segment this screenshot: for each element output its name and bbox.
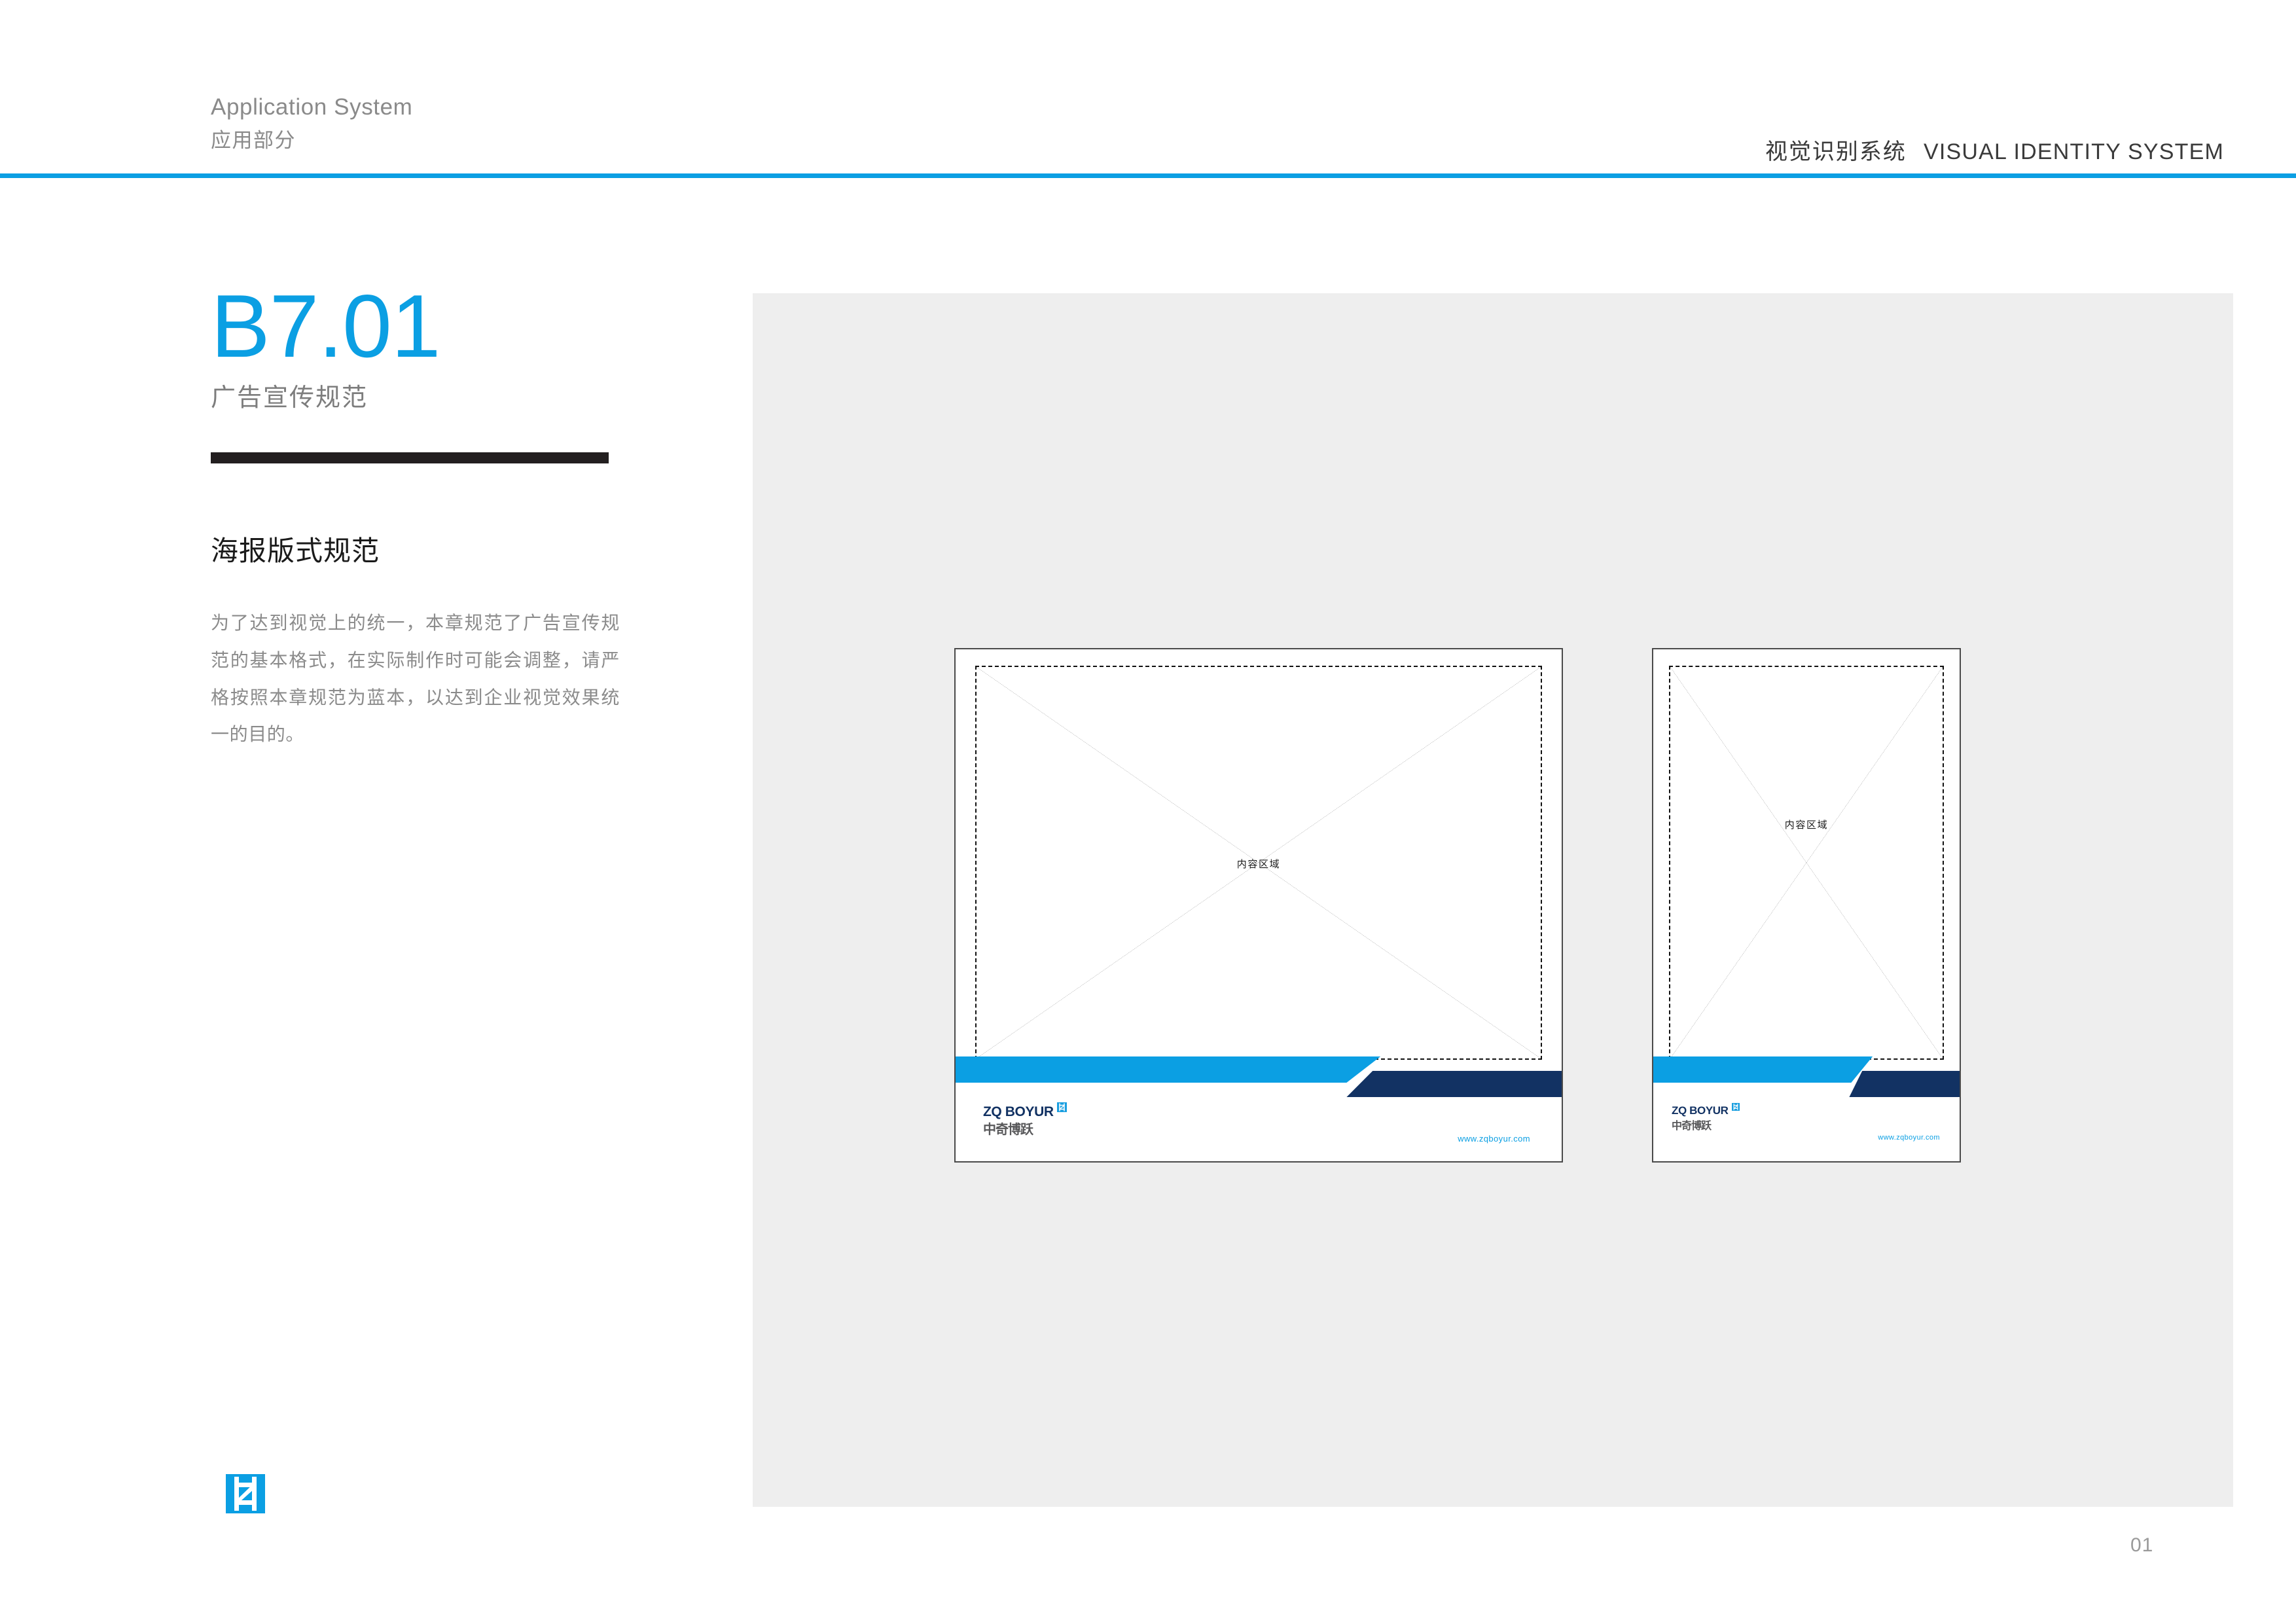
section-code: B7.01 xyxy=(211,281,630,370)
header-title-en: Application System xyxy=(211,92,412,123)
header-system-label: 视觉识别系统VISUAL IDENTITY SYSTEM xyxy=(1765,134,2224,166)
brand-square-icon xyxy=(1057,1102,1067,1115)
header-title-group: Application System 应用部分 xyxy=(211,92,412,155)
brand-website-url: www.zqboyur.com xyxy=(1878,1134,1940,1142)
header-accent-rule xyxy=(0,173,2296,178)
block-body-text: 为了达到视觉上的统一，本章规范了广告宣传规范的基本格式，在实际制作时可能会调整，… xyxy=(211,605,620,753)
content-area-label: 内容区域 xyxy=(1670,818,1943,831)
section-divider xyxy=(211,452,609,463)
brand-logo: ZQ BOYUR xyxy=(1672,1105,1740,1132)
header-system-label-cn: 视觉识别系统 xyxy=(1765,139,1907,164)
brand-monogram-icon xyxy=(226,1474,265,1513)
brand-band-shapes xyxy=(956,1056,1562,1097)
brand-wordmark-group: ZQ BOYUR xyxy=(983,1105,1067,1119)
header-system-label-en: VISUAL IDENTITY SYSTEM xyxy=(1924,139,2224,164)
brand-cn-name: 中奇博跃 xyxy=(1672,1121,1740,1132)
brand-wordmark-text: ZQ BOYUR xyxy=(1672,1105,1729,1116)
page-header: Application System 应用部分 视觉识别系统VISUAL IDE… xyxy=(0,0,2296,187)
page-number: 01 xyxy=(2130,1534,2153,1557)
section-subtitle: 广告宣传规范 xyxy=(211,377,630,413)
brand-cn-name: 中奇博跃 xyxy=(983,1123,1067,1136)
content-area-placeholder: 内容区域 xyxy=(975,666,1542,1060)
brand-website-url: www.zqboyur.com xyxy=(1458,1134,1530,1144)
brand-square-icon xyxy=(1732,1102,1740,1114)
content-area-placeholder: 内容区域 xyxy=(1669,666,1944,1060)
block-heading: 海报版式规范 xyxy=(211,529,630,569)
brand-logo: ZQ BOYUR xyxy=(983,1105,1067,1136)
brand-wordmark-group: ZQ BOYUR xyxy=(1672,1105,1740,1117)
poster-brand-bar: ZQ BOYUR xyxy=(956,1056,1562,1161)
placeholder-cross-icon xyxy=(1670,667,1943,1058)
portrait-poster-mockup: 内容区域 ZQ BOYUR xyxy=(1652,648,1961,1163)
brand-band-shapes xyxy=(1653,1056,1960,1097)
showcase-panel: 内容区域 ZQ BOYUR xyxy=(753,293,2233,1507)
header-title-cn: 应用部分 xyxy=(211,127,412,155)
left-info-column: B7.01 广告宣传规范 海报版式规范 为了达到视觉上的统一，本章规范了广告宣传… xyxy=(211,281,630,753)
brand-wordmark-text: ZQ BOYUR xyxy=(983,1105,1054,1119)
content-area-label: 内容区域 xyxy=(977,857,1541,871)
poster-brand-bar: ZQ BOYUR xyxy=(1653,1056,1960,1161)
landscape-poster-mockup: 内容区域 ZQ BOYUR xyxy=(954,648,1563,1163)
